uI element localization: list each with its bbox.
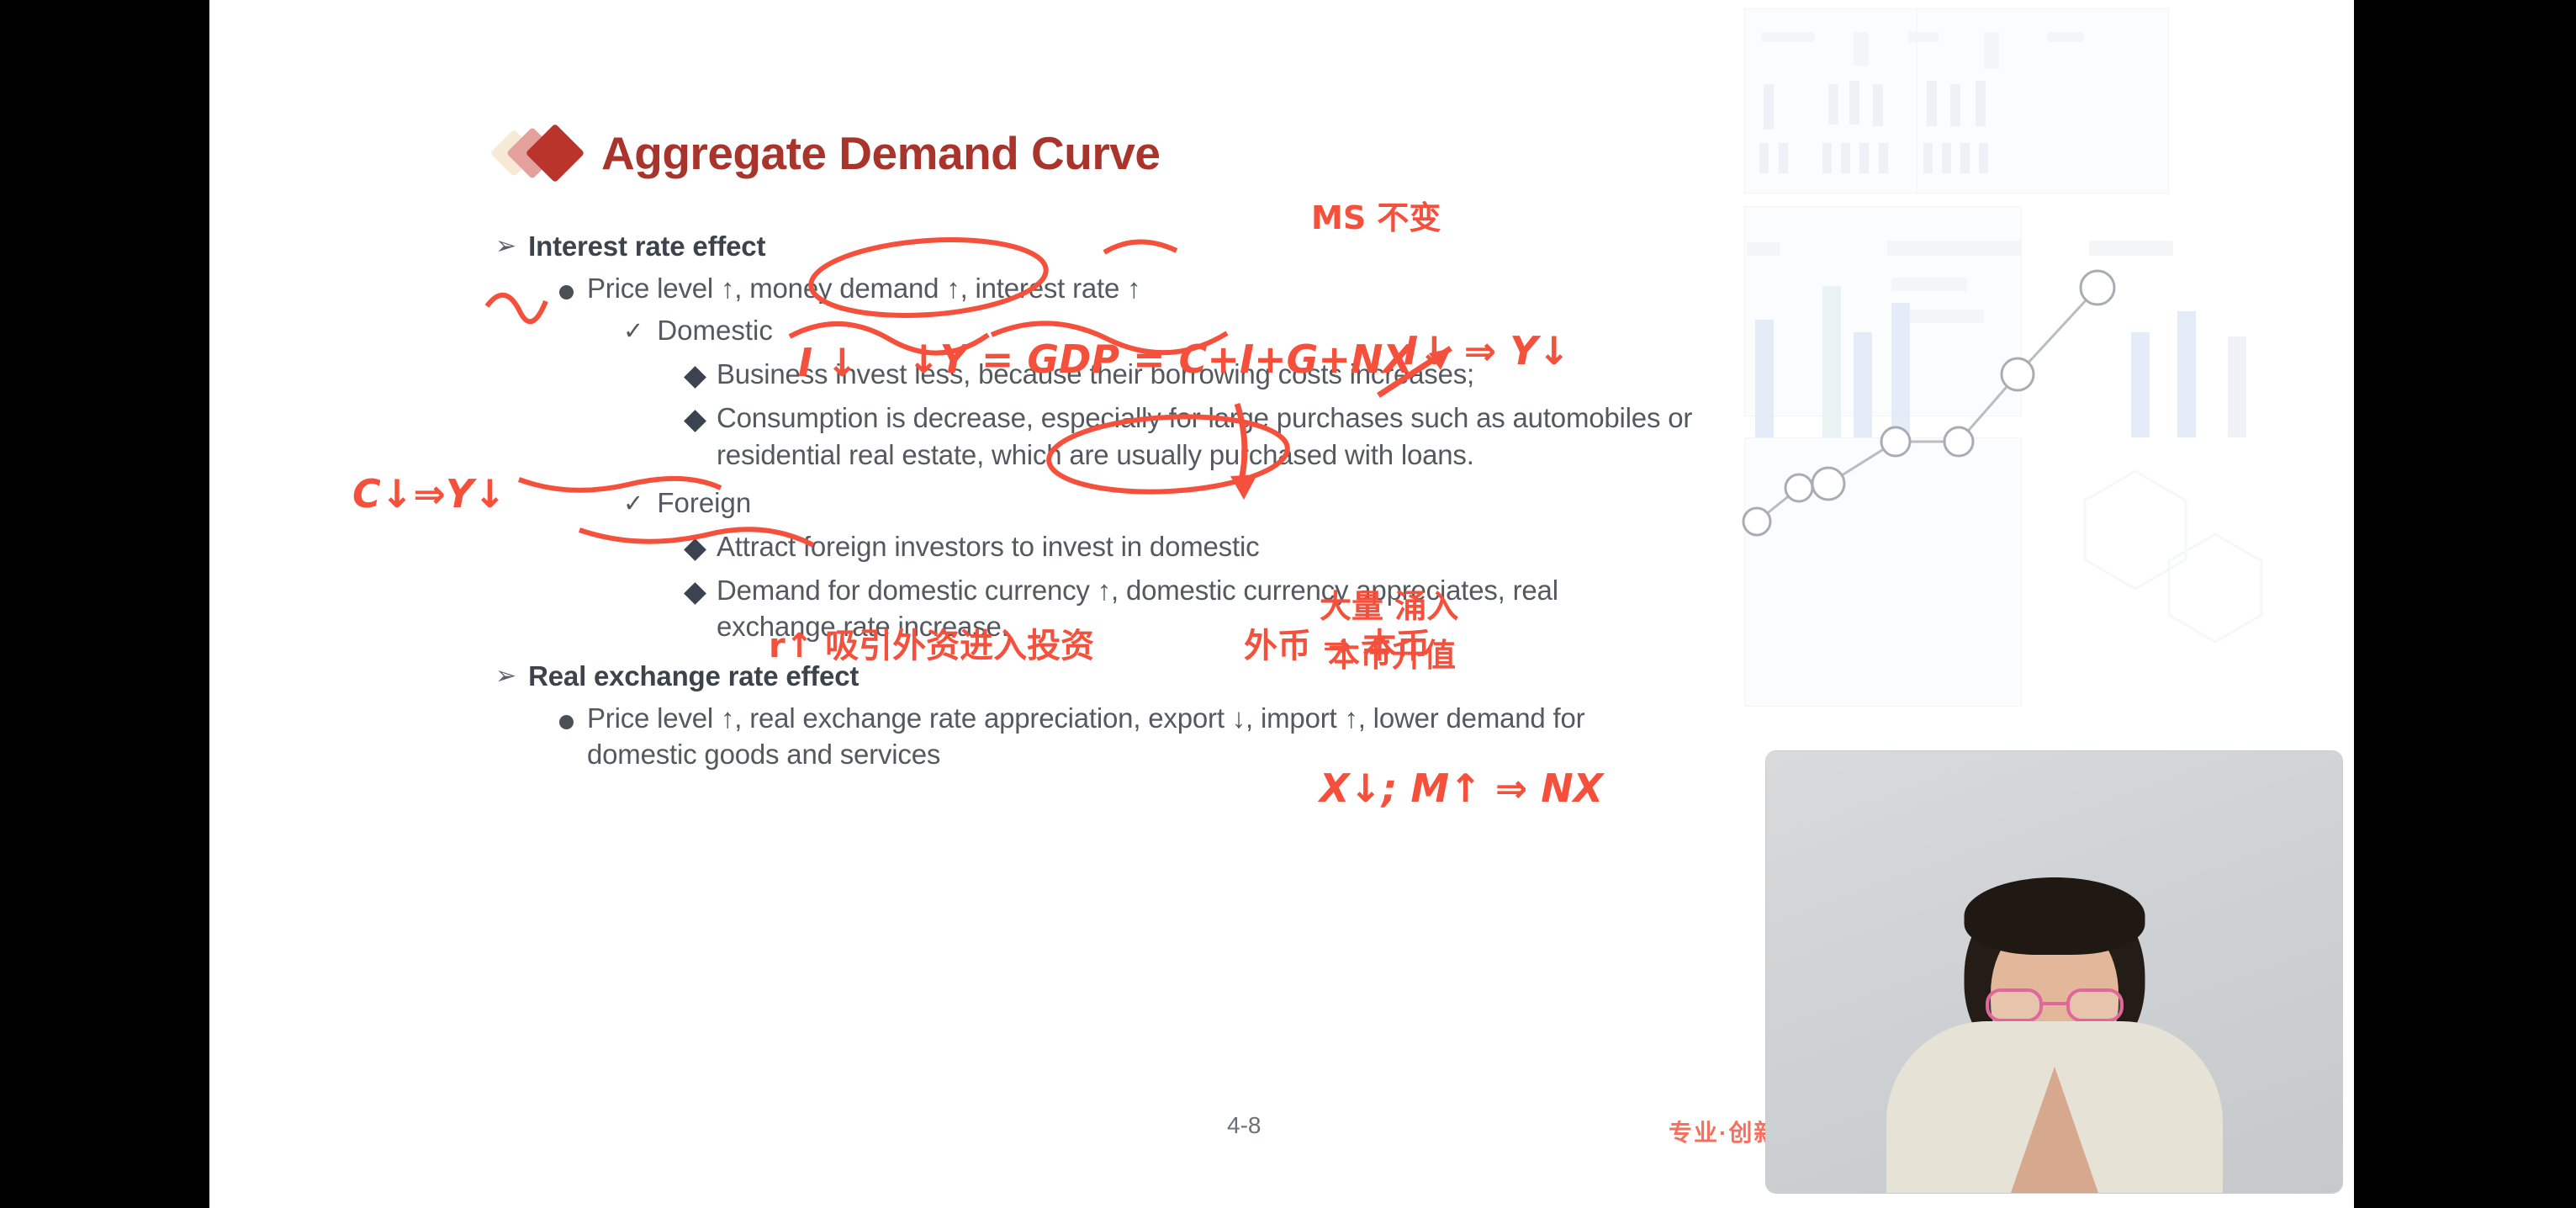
page-title: Aggregate Demand Curve [601, 126, 1160, 180]
bg-bar [1950, 84, 1960, 126]
outline-item-currency-demand: Demand for domestic currency ↑, domestic… [687, 572, 1579, 646]
bg-bar [1822, 143, 1832, 173]
arrow-bullet-icon: ➢ [495, 230, 516, 259]
bg-panel-2 [1917, 8, 2169, 193]
diamond-bullet-icon [684, 410, 706, 432]
bg-bar [1859, 143, 1869, 173]
bg-bar [1873, 84, 1883, 126]
diamond-bullet-icon [684, 366, 706, 389]
bg-label [2047, 32, 2084, 42]
instructor-webcam-video[interactable] [1766, 751, 2342, 1193]
outline-heading: Interest rate effect [528, 230, 765, 262]
outline-text: Attract foreign investors to invest in d… [717, 528, 1259, 565]
outline-heading: Real exchange rate effect [528, 660, 859, 692]
annotation-c-down-y-down: C↓⇒Y↓ [352, 471, 506, 517]
outline-item-consumption: Consumption is decrease, especially for … [687, 400, 1772, 474]
bg-bar [1976, 81, 1986, 126]
bg-bar [1841, 143, 1850, 173]
check-bullet-icon: ✓ [623, 313, 643, 348]
outline-text: Foreign [657, 485, 751, 522]
dot-bullet-icon [559, 285, 574, 299]
outline-text: Domestic [657, 313, 773, 349]
outline-text: Price level ↑, money demand ↑, interest … [587, 271, 1140, 306]
avatar-glasses [1986, 988, 2124, 1022]
bg-bar [1828, 84, 1838, 125]
annotation-x-down-m-up-nx: X↓; M↑ ⇒ NX [1320, 766, 1603, 811]
outline-item-real-exchange-rate-effect: ➢ Real exchange rate effect [495, 660, 1908, 692]
bg-bar [2131, 332, 2150, 437]
outline-item-price-level: Price level ↑, money demand ↑, interest … [559, 271, 1908, 306]
bg-label [1908, 32, 1939, 42]
bg-bar [1779, 143, 1788, 173]
outline-text: Consumption is decrease, especially for … [717, 400, 1772, 474]
arrow-bullet-icon: ➢ [495, 660, 516, 689]
outline-item-attract-investors: Attract foreign investors to invest in d… [687, 528, 1908, 565]
diamond-bullet-icon [684, 582, 706, 605]
hexagon-decoration-icon [2051, 454, 2329, 707]
bg-bar [1764, 84, 1774, 130]
screen: Aggregate Demand Curve ➢ Interest rate e… [0, 0, 2576, 1208]
bg-bar [2228, 336, 2246, 437]
outline-text: Price level ↑, real exchange rate apprec… [587, 701, 1669, 771]
slide-body: ➢ Interest rate effect Price level ↑, mo… [495, 225, 1908, 772]
bg-bar [1759, 143, 1769, 173]
dot-bullet-icon [559, 715, 574, 729]
page-number: 4-8 [1227, 1112, 1261, 1139]
bg-bar [1960, 143, 1970, 173]
diamond-bullet-icon [684, 538, 706, 561]
outline-item-domestic: ✓ Domestic [623, 313, 1908, 349]
bg-panel-1 [1744, 8, 2022, 193]
diamond-bullet-icon [495, 127, 588, 179]
outline-text: Demand for domestic currency ↑, domestic… [717, 572, 1579, 646]
bg-bar [1942, 143, 1951, 173]
bg-label [2089, 241, 2173, 256]
bg-label [1854, 32, 1869, 66]
outline-text: Business invest less, because their borr… [717, 356, 1474, 393]
avatar-hair-front [1964, 877, 2145, 955]
slide-title-row: Aggregate Demand Curve [495, 126, 1160, 180]
bg-label [1761, 32, 1815, 42]
outline-item-business-invest: Business invest less, because their borr… [687, 356, 1908, 393]
bg-bar [1927, 81, 1937, 126]
bg-bar [1923, 143, 1933, 173]
outline-item-foreign: ✓ Foreign [623, 485, 1908, 522]
bg-bar [1979, 143, 1988, 173]
outline-item-price-level-exchange: Price level ↑, real exchange rate apprec… [559, 701, 1669, 771]
bg-label [1984, 32, 1999, 69]
bg-bar [2177, 311, 2196, 437]
bg-bar [1849, 81, 1859, 125]
check-bullet-icon: ✓ [623, 485, 643, 521]
bg-bar [1879, 143, 1888, 173]
avatar-vneck [2011, 1067, 2098, 1193]
outline-item-interest-rate-effect: ➢ Interest rate effect [495, 230, 1908, 262]
